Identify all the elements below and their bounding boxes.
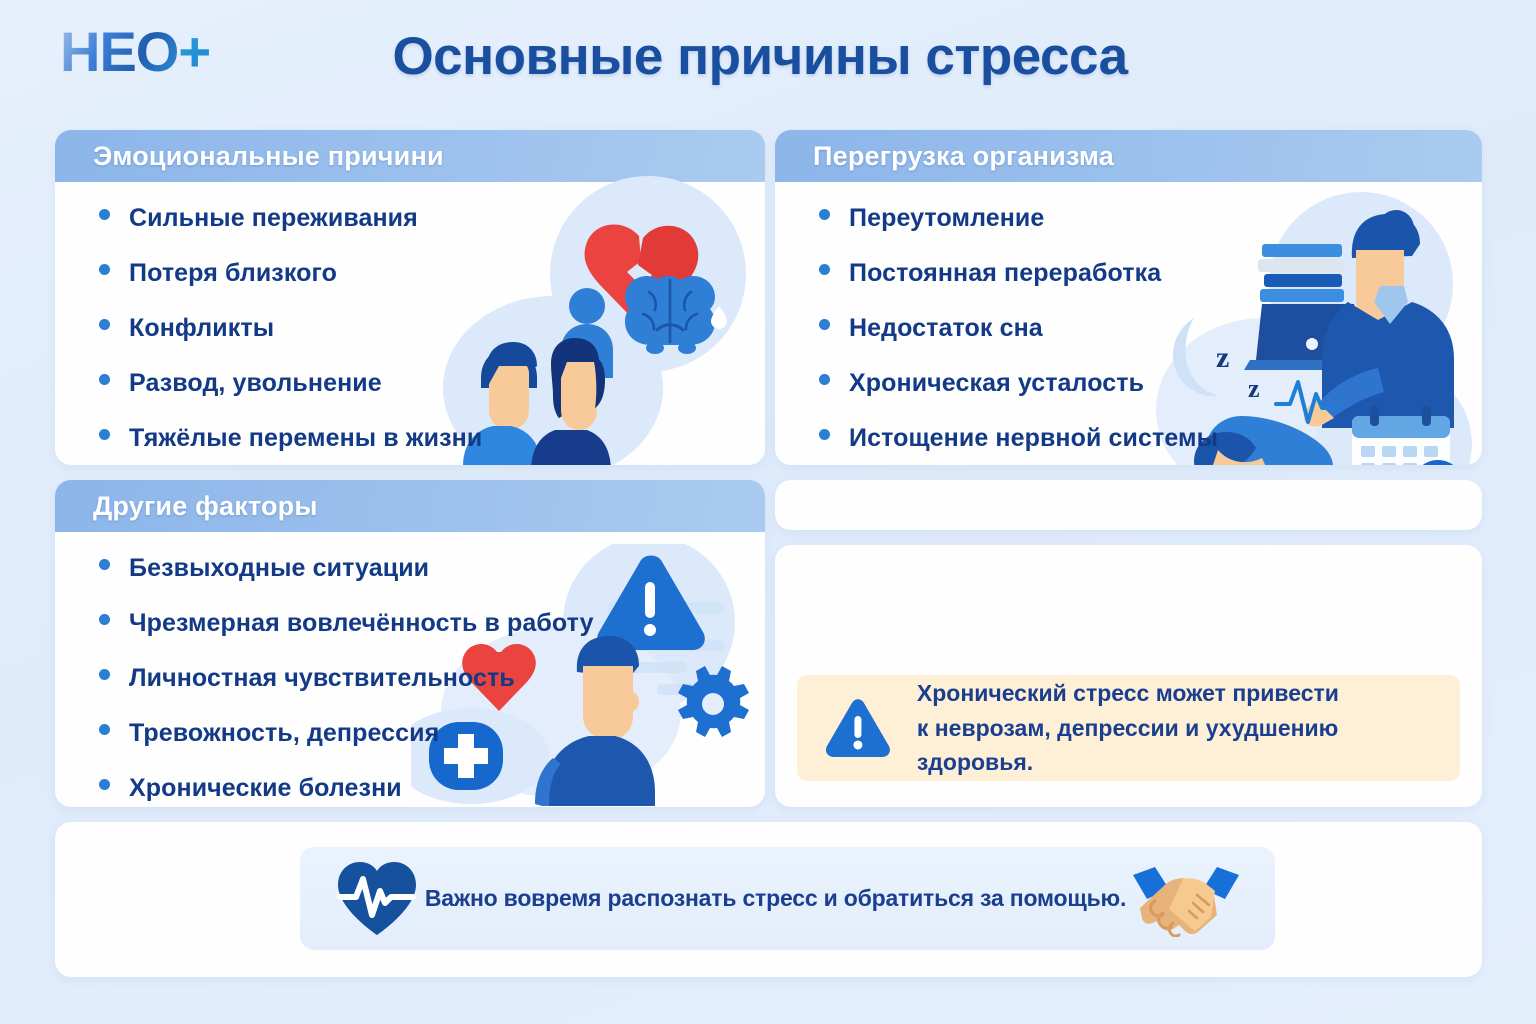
bullet-dot-icon — [99, 209, 110, 220]
bullet-dot-icon — [819, 374, 830, 385]
overload-causes-list: Переутомление Постоянная переработка Нед… — [775, 182, 1482, 453]
warning-triangle-icon — [825, 698, 891, 758]
blank-panel — [775, 480, 1482, 530]
bullet-dot-icon — [99, 669, 110, 680]
list-item: Истощение нервной системы — [819, 424, 1482, 453]
list-item-label: Хронические болезни — [129, 774, 402, 803]
brand-logo: НЕО+ — [60, 24, 210, 80]
list-item: Хронические болезни — [99, 774, 765, 803]
bullet-dot-icon — [99, 614, 110, 625]
brand-logo-text: НЕО — [60, 20, 178, 83]
handshake-icon — [1131, 861, 1241, 937]
list-item-label: Конфликты — [129, 314, 274, 343]
card-emotional-causes: Эмоциональные причини — [55, 130, 765, 465]
list-item-label: Недостаток сна — [849, 314, 1043, 343]
card-body-overload: Перегрузка организма — [775, 130, 1482, 465]
heart-pulse-icon — [334, 859, 420, 939]
list-item: Конфликты — [99, 314, 765, 343]
list-item-label: Личностная чувствительность — [129, 664, 515, 693]
card-other-factors: Другие факторы — [55, 480, 765, 807]
list-item-label: Чрезмерная вовлечённость в работу — [129, 609, 594, 638]
list-item: Безвыходные ситуации — [99, 554, 765, 583]
bullet-dot-icon — [99, 374, 110, 385]
list-item-label: Переутомление — [849, 204, 1044, 233]
card-other-body: Безвыходные ситуации Чрезмерная вовлечён… — [55, 532, 765, 807]
footer-text: Важно вовремя распознать стресс и обрати… — [420, 885, 1131, 912]
warning-line-1: Хронический стресс может привести — [917, 676, 1460, 711]
footer-callout: Важно вовремя распознать стресс и обрати… — [300, 847, 1275, 950]
brand-logo-plus: + — [178, 20, 210, 83]
other-factors-list: Безвыходные ситуации Чрезмерная вовлечён… — [55, 532, 765, 803]
bullet-dot-icon — [99, 264, 110, 275]
list-item: Постоянная переработка — [819, 259, 1482, 288]
list-item-label: Потеря близкого — [129, 259, 337, 288]
card-emotional-header: Эмоциональные причини — [55, 130, 765, 182]
list-item-label: Развод, увольнение — [129, 369, 382, 398]
page-title: Основные причины стресса — [360, 26, 1160, 87]
list-item: Чрезмерная вовлечённость в работу — [99, 609, 765, 638]
list-item: Тревожность, депрессия — [99, 719, 765, 748]
warning-text: Хронический стресс может привести к невр… — [917, 676, 1460, 781]
warning-callout: Хронический стресс может привести к невр… — [797, 675, 1460, 781]
bullet-dot-icon — [819, 429, 830, 440]
list-item: Личностная чувствительность — [99, 664, 765, 693]
bullet-dot-icon — [99, 559, 110, 570]
list-item: Тяжёлые перемены в жизни — [99, 424, 765, 453]
card-overload-title: Перегрузка организма — [813, 141, 1114, 172]
card-emotional-title: Эмоциональные причини — [93, 141, 444, 172]
bullet-dot-icon — [99, 724, 110, 735]
list-item-label: Тяжёлые перемены в жизни — [129, 424, 482, 453]
list-item: Потеря близкого — [99, 259, 765, 288]
page-header: НЕО+ Основные причины стресса — [0, 0, 1536, 122]
list-item-label: Истощение нервной системы — [849, 424, 1218, 453]
list-item: Переутомление — [819, 204, 1482, 233]
card-emotional-body: Сильные переживания Потеря близкого Конф… — [55, 182, 765, 465]
card-overload-header: Перегрузка организма — [775, 130, 1482, 182]
list-item: Развод, увольнение — [99, 369, 765, 398]
bullet-dot-icon — [819, 319, 830, 330]
list-item-label: Хроническая усталость — [849, 369, 1144, 398]
bullet-dot-icon — [819, 264, 830, 275]
list-item-label: Безвыходные ситуации — [129, 554, 429, 583]
card-other-title: Другие факторы — [93, 491, 318, 522]
bullet-dot-icon — [99, 779, 110, 790]
list-item-label: Постоянная переработка — [849, 259, 1161, 288]
card-footer-panel: Важно вовремя распознать стресс и обрати… — [55, 822, 1482, 977]
list-item-label: Тревожность, депрессия — [129, 719, 439, 748]
bullet-dot-icon — [819, 209, 830, 220]
list-item: Хроническая усталость — [819, 369, 1482, 398]
warning-line-2: к неврозам, депрессии и ухудшению здоров… — [917, 711, 1460, 781]
list-item-label: Сильные переживания — [129, 204, 418, 233]
emotional-causes-list: Сильные переживания Потеря близкого Конф… — [55, 182, 765, 453]
card-warning-panel: Хронический стресс может привести к невр… — [775, 545, 1482, 807]
list-item: Сильные переживания — [99, 204, 765, 233]
list-item: Недостаток сна — [819, 314, 1482, 343]
bullet-dot-icon — [99, 319, 110, 330]
bullet-dot-icon — [99, 429, 110, 440]
card-overload-body: z z — [775, 182, 1482, 465]
card-other-header: Другие факторы — [55, 480, 765, 532]
